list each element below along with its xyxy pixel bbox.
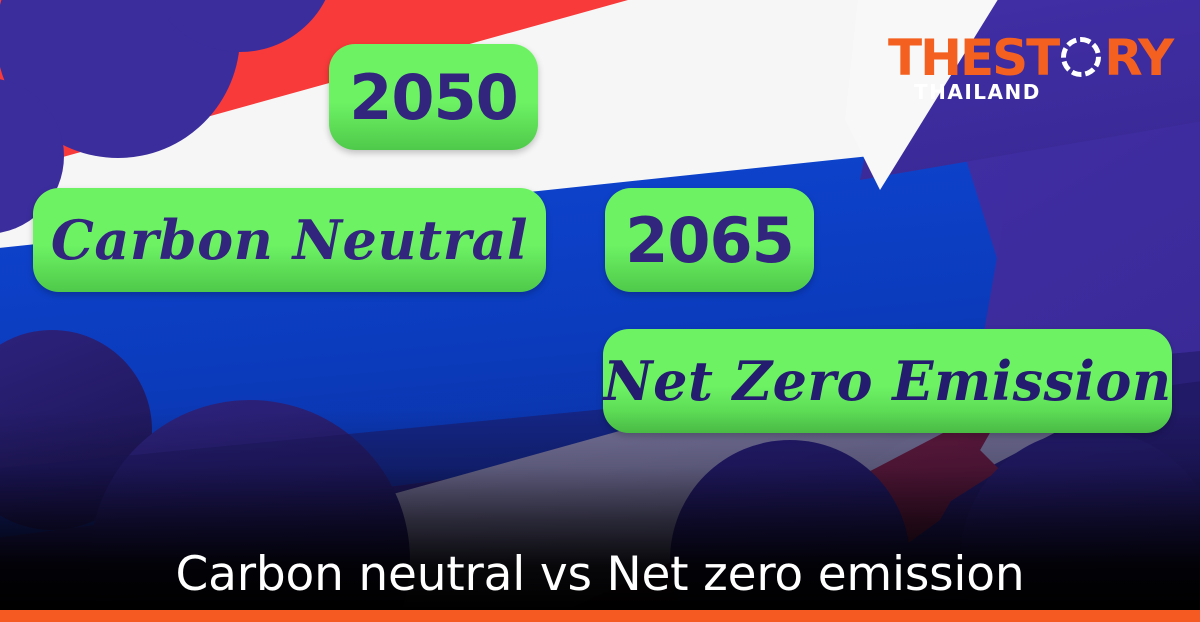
badge-year-2050-label: 2050 bbox=[349, 61, 518, 134]
logo-word-st: ST bbox=[992, 29, 1058, 87]
logo-word-the: THE bbox=[888, 29, 992, 87]
bottom-accent-bar bbox=[0, 610, 1200, 622]
badge-year-2065-label: 2065 bbox=[625, 204, 794, 277]
logo-wordmark: THESTRY bbox=[888, 33, 1172, 83]
logo-subtitle: THAILAND bbox=[914, 82, 1041, 102]
dashed-circle-o-icon bbox=[1058, 35, 1104, 81]
graphic-card: 2050 Carbon Neutral 2065 Net Zero Emissi… bbox=[0, 0, 1200, 622]
badge-year-2065: 2065 bbox=[605, 188, 814, 292]
site-logo[interactable]: THESTRY THAILAND bbox=[888, 33, 1150, 109]
badge-net-zero-emission-label: Net Zero Emission bbox=[603, 349, 1171, 413]
badge-carbon-neutral: Carbon Neutral bbox=[33, 188, 546, 292]
badge-carbon-neutral-label: Carbon Neutral bbox=[51, 208, 528, 272]
logo-word-ry: RY bbox=[1104, 29, 1172, 87]
page-title: Carbon neutral vs Net zero emission bbox=[0, 551, 1200, 598]
badge-year-2050: 2050 bbox=[329, 44, 538, 150]
badge-net-zero-emission: Net Zero Emission bbox=[603, 329, 1172, 433]
